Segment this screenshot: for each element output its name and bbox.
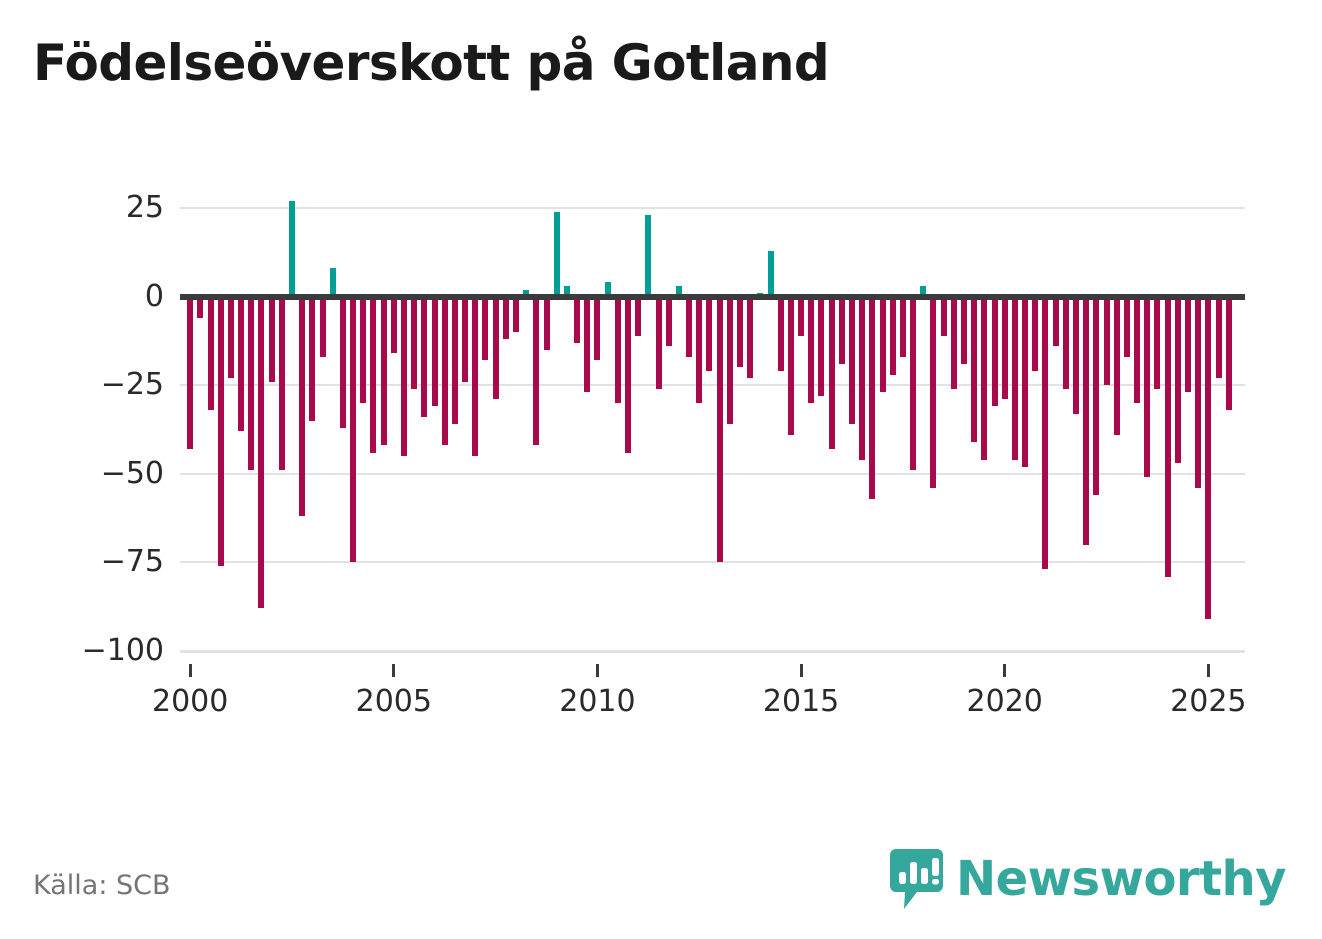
bar bbox=[1216, 297, 1222, 379]
bar bbox=[401, 297, 407, 456]
bar bbox=[971, 297, 977, 442]
bar bbox=[299, 297, 305, 517]
bar bbox=[625, 297, 631, 453]
bar bbox=[645, 215, 651, 297]
bar bbox=[839, 297, 845, 364]
bar bbox=[1083, 297, 1089, 545]
y-axis-tick-label: −25 bbox=[101, 370, 164, 400]
x-axis-tick-mark bbox=[596, 664, 599, 677]
y-axis-tick-label: −100 bbox=[82, 636, 164, 666]
x-axis-tick-mark bbox=[189, 664, 192, 677]
bar bbox=[798, 297, 804, 336]
x-axis-tick-label: 2020 bbox=[967, 683, 1043, 721]
x-axis-tick-mark bbox=[800, 664, 803, 677]
bar bbox=[951, 297, 957, 389]
bar bbox=[208, 297, 214, 410]
bar bbox=[309, 297, 315, 421]
bar bbox=[258, 297, 264, 609]
bar bbox=[370, 297, 376, 453]
x-axis-tick-label: 2000 bbox=[152, 683, 228, 721]
bar bbox=[859, 297, 865, 460]
bar bbox=[269, 297, 275, 382]
bar bbox=[737, 297, 743, 368]
bar bbox=[849, 297, 855, 425]
bar bbox=[1114, 297, 1120, 435]
bar bbox=[462, 297, 468, 382]
bars-group bbox=[180, 208, 1245, 651]
bar bbox=[411, 297, 417, 389]
bar bbox=[360, 297, 366, 403]
bar bbox=[228, 297, 234, 379]
bar bbox=[717, 297, 723, 563]
bar bbox=[686, 297, 692, 357]
bar bbox=[187, 297, 193, 449]
bar bbox=[869, 297, 875, 499]
bar bbox=[442, 297, 448, 446]
bar bbox=[238, 297, 244, 432]
bar bbox=[829, 297, 835, 449]
bar bbox=[1144, 297, 1150, 478]
bar bbox=[696, 297, 702, 403]
bar bbox=[594, 297, 600, 361]
bar bbox=[1063, 297, 1069, 389]
bar bbox=[1124, 297, 1130, 357]
newsworthy-logo[interactable]: Newsworthy bbox=[890, 849, 1286, 909]
bar bbox=[1093, 297, 1099, 495]
y-axis-tick-label: −50 bbox=[101, 459, 164, 489]
bar bbox=[1032, 297, 1038, 371]
y-axis-tick-label: −75 bbox=[101, 547, 164, 577]
x-axis-tick-mark bbox=[1207, 664, 1210, 677]
bar bbox=[1073, 297, 1079, 414]
bar bbox=[320, 297, 326, 357]
bar bbox=[452, 297, 458, 425]
x-axis-tick-label: 2015 bbox=[763, 683, 839, 721]
bar bbox=[1053, 297, 1059, 347]
source-caption: Källa: SCB bbox=[33, 869, 171, 903]
bar bbox=[727, 297, 733, 425]
bar bbox=[1226, 297, 1232, 410]
bar bbox=[432, 297, 438, 407]
x-axis-tick-mark bbox=[1003, 664, 1006, 677]
bar bbox=[1012, 297, 1018, 460]
bar bbox=[1185, 297, 1191, 393]
bar bbox=[340, 297, 346, 428]
bar bbox=[910, 297, 916, 471]
bar bbox=[1195, 297, 1201, 488]
bar bbox=[788, 297, 794, 435]
bar bbox=[1134, 297, 1140, 403]
bar bbox=[1154, 297, 1160, 389]
chart-page: Födelseöverskott på Gotland 250−25−50−75… bbox=[0, 0, 1322, 939]
bar bbox=[421, 297, 427, 417]
bar bbox=[544, 297, 550, 350]
bar bbox=[666, 297, 672, 347]
bar bbox=[1205, 297, 1211, 620]
y-axis-tick-label: 25 bbox=[126, 193, 164, 223]
bar bbox=[808, 297, 814, 403]
bar bbox=[218, 297, 224, 566]
bar bbox=[279, 297, 285, 471]
bar bbox=[656, 297, 662, 389]
bar bbox=[350, 297, 356, 563]
y-axis-tick-label: 0 bbox=[145, 282, 164, 312]
x-axis-tick-label: 2025 bbox=[1170, 683, 1246, 721]
bar bbox=[503, 297, 509, 340]
bar bbox=[900, 297, 906, 357]
bar bbox=[880, 297, 886, 393]
bar bbox=[747, 297, 753, 379]
bar bbox=[493, 297, 499, 400]
zero-line bbox=[180, 294, 1245, 300]
brand-name: Newsworthy bbox=[956, 853, 1286, 905]
bar bbox=[768, 251, 774, 297]
x-axis-tick-mark bbox=[392, 664, 395, 677]
bar bbox=[381, 297, 387, 446]
x-axis-tick-label: 2010 bbox=[559, 683, 635, 721]
bar bbox=[1104, 297, 1110, 386]
bar bbox=[992, 297, 998, 407]
chart-plot-area: 250−25−50−75−100 20002005201020152020202… bbox=[0, 0, 1322, 760]
bar bbox=[513, 297, 519, 332]
bar bbox=[248, 297, 254, 471]
bar bbox=[472, 297, 478, 456]
bar bbox=[961, 297, 967, 364]
bar bbox=[584, 297, 590, 393]
bar bbox=[482, 297, 488, 361]
plot-canvas bbox=[180, 208, 1245, 651]
bar bbox=[1002, 297, 1008, 400]
bar bbox=[1042, 297, 1048, 570]
bar-chart-speech-bubble-icon bbox=[890, 849, 943, 909]
bar bbox=[197, 297, 203, 318]
bar bbox=[890, 297, 896, 375]
bar bbox=[941, 297, 947, 336]
bar bbox=[330, 268, 336, 296]
bar bbox=[1022, 297, 1028, 467]
x-axis-line bbox=[180, 651, 1245, 653]
x-axis-tick-label: 2005 bbox=[356, 683, 432, 721]
bar bbox=[706, 297, 712, 371]
bar bbox=[574, 297, 580, 343]
bar bbox=[818, 297, 824, 396]
bar bbox=[778, 297, 784, 371]
bar bbox=[391, 297, 397, 354]
bar bbox=[289, 201, 295, 297]
bar bbox=[554, 212, 560, 297]
bar bbox=[1165, 297, 1171, 577]
bar bbox=[930, 297, 936, 488]
bar bbox=[635, 297, 641, 336]
bar bbox=[1175, 297, 1181, 464]
bar bbox=[615, 297, 621, 403]
bar bbox=[981, 297, 987, 460]
bar bbox=[533, 297, 539, 446]
